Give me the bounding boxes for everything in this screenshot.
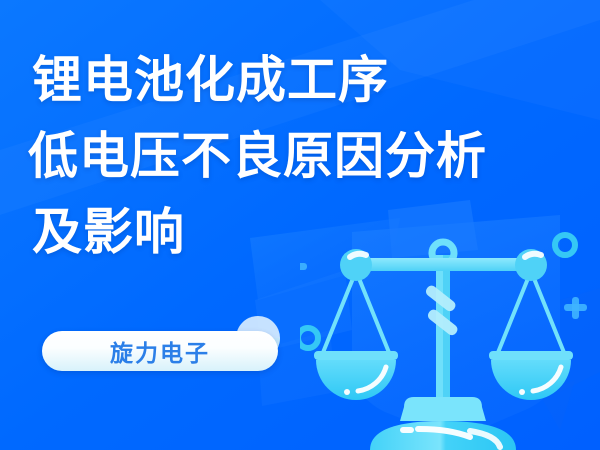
scale-pan-right bbox=[489, 351, 573, 400]
plus-icon bbox=[564, 297, 587, 319]
poster-title: 锂电池化成工序 低电压不良原因分析 及影响 bbox=[28, 42, 487, 270]
brand-name-label: 旋力电子 bbox=[110, 334, 210, 368]
title-line-1: 锂电池化成工序 bbox=[28, 42, 487, 118]
ring-icon bbox=[555, 235, 575, 255]
title-line-2: 低电压不良原因分析 bbox=[28, 118, 487, 194]
scale-pan-left bbox=[314, 351, 398, 400]
ring-icon bbox=[300, 328, 318, 348]
poster-canvas: 锂电池化成工序 低电压不良原因分析 及影响 旋力电子 bbox=[0, 0, 600, 450]
scale-base bbox=[370, 397, 516, 450]
title-line-3: 及影响 bbox=[28, 194, 487, 270]
brand-badge[interactable]: 旋力电子 bbox=[42, 331, 278, 371]
